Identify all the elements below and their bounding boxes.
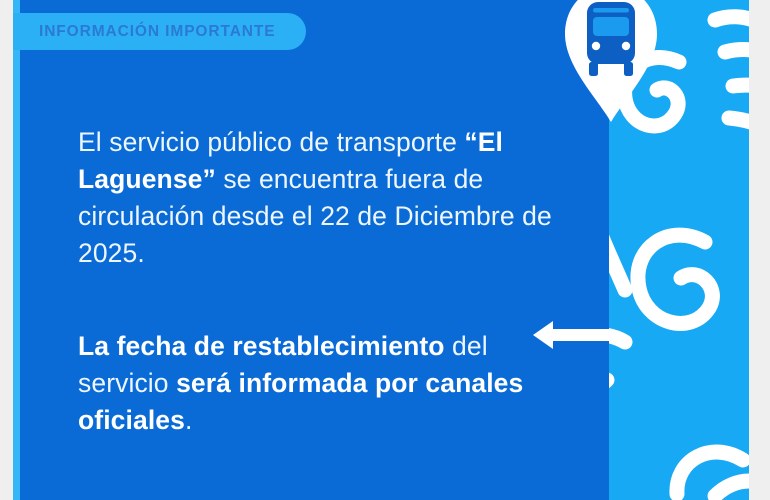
status-badge: INFORMACIÓN IMPORTANTE: [13, 13, 306, 50]
announcement-copy: El servicio público de transporte “El La…: [78, 124, 558, 439]
paragraph-2-segment-1: La fecha de restablecimiento: [78, 331, 445, 361]
bus-map-pin-icon: [563, 0, 659, 130]
paragraph-2-segment-4: .: [185, 405, 192, 435]
poster-canvas: INFORMACIÓN IMPORTANTE El servicio públi…: [0, 0, 770, 500]
left-arrow-icon: [531, 318, 611, 352]
left-accent-strip: [13, 0, 20, 500]
paragraph-restoration-date: La fecha de restablecimiento del servici…: [78, 328, 558, 439]
status-badge-label: INFORMACIÓN IMPORTANTE: [39, 23, 276, 41]
paragraph-1-segment-1: El servicio público de transporte: [78, 127, 464, 157]
paragraph-service-status: El servicio público de transporte “El La…: [78, 124, 558, 272]
